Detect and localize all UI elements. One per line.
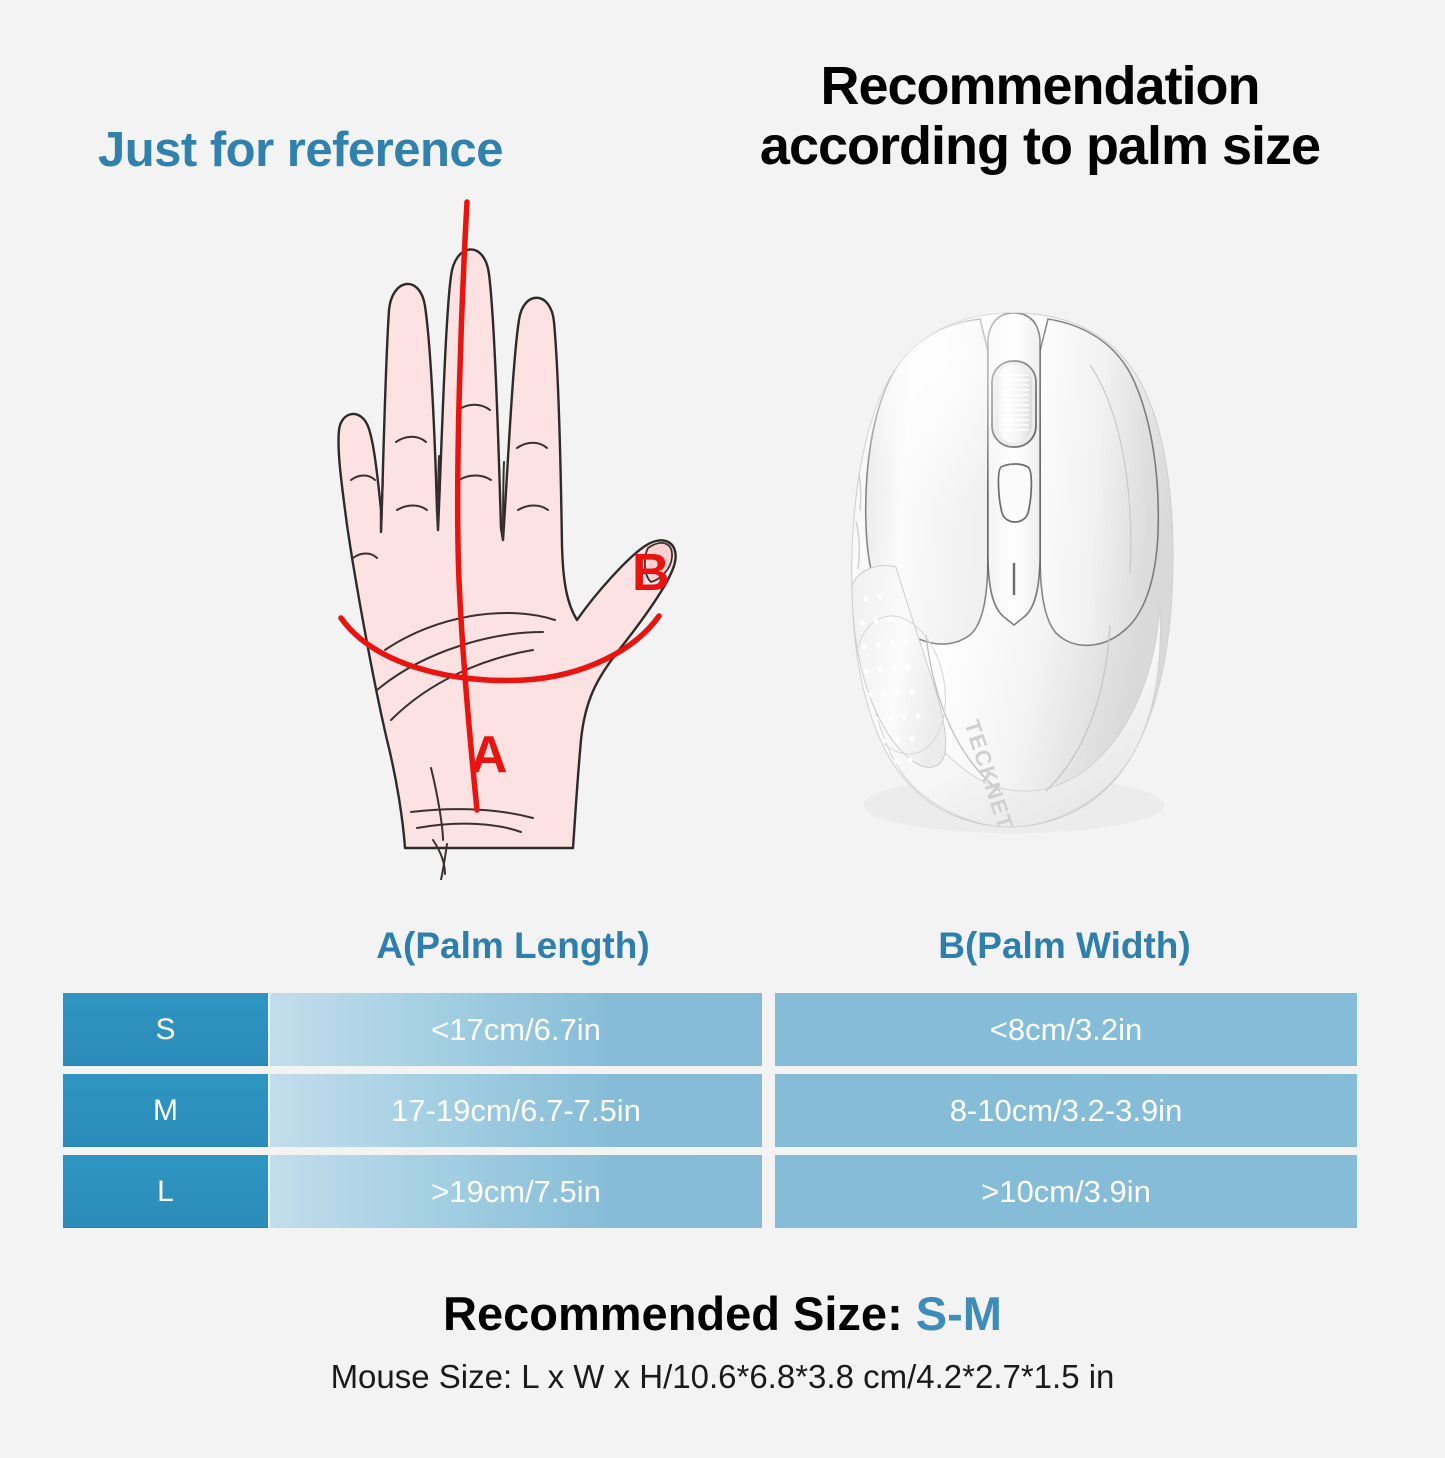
- palm-length-cell: <17cm/6.7in: [270, 993, 762, 1066]
- table-row: L >19cm/7.5in >10cm/3.9in: [63, 1155, 1357, 1228]
- column-header-palm-length: A(Palm Length): [268, 925, 758, 967]
- page-title-line2: according to palm size: [660, 116, 1420, 176]
- page-title: Recommendation according to palm size: [660, 56, 1420, 177]
- reference-caption: Just for reference: [98, 122, 503, 178]
- palm-length-label: A: [470, 725, 508, 785]
- table-row: M 17-19cm/6.7-7.5in 8-10cm/3.2-3.9in: [63, 1074, 1357, 1147]
- palm-width-cell: >10cm/3.9in: [775, 1155, 1357, 1228]
- recommended-size-prefix: Recommended Size:: [443, 1287, 916, 1340]
- page-title-line1: Recommendation: [820, 56, 1259, 116]
- palm-width-label: B: [632, 543, 670, 603]
- mouse-product-image: TECKNET: [838, 305, 1190, 835]
- hand-shape: [338, 249, 675, 880]
- size-recommendation-table: S <17cm/6.7in <8cm/3.2in M 17-19cm/6.7-7…: [63, 993, 1357, 1228]
- palm-length-cell: 17-19cm/6.7-7.5in: [270, 1074, 762, 1147]
- size-label-cell: L: [63, 1155, 268, 1228]
- table-row: S <17cm/6.7in <8cm/3.2in: [63, 993, 1357, 1066]
- palm-width-cell: 8-10cm/3.2-3.9in: [775, 1074, 1357, 1147]
- size-label-cell: S: [63, 993, 268, 1066]
- palm-length-cell: >19cm/7.5in: [270, 1155, 762, 1228]
- recommended-size-value: S-M: [916, 1287, 1002, 1340]
- mouse-body: TECKNET: [842, 305, 1173, 833]
- palm-width-cell: <8cm/3.2in: [775, 993, 1357, 1066]
- recommended-size-line: Recommended Size: S-M: [0, 1286, 1445, 1341]
- size-label-cell: M: [63, 1074, 268, 1147]
- column-header-palm-width: B(Palm Width): [772, 925, 1357, 967]
- mouse-dimensions-line: Mouse Size: L x W x H/10.6*6.8*3.8 cm/4.…: [0, 1358, 1445, 1396]
